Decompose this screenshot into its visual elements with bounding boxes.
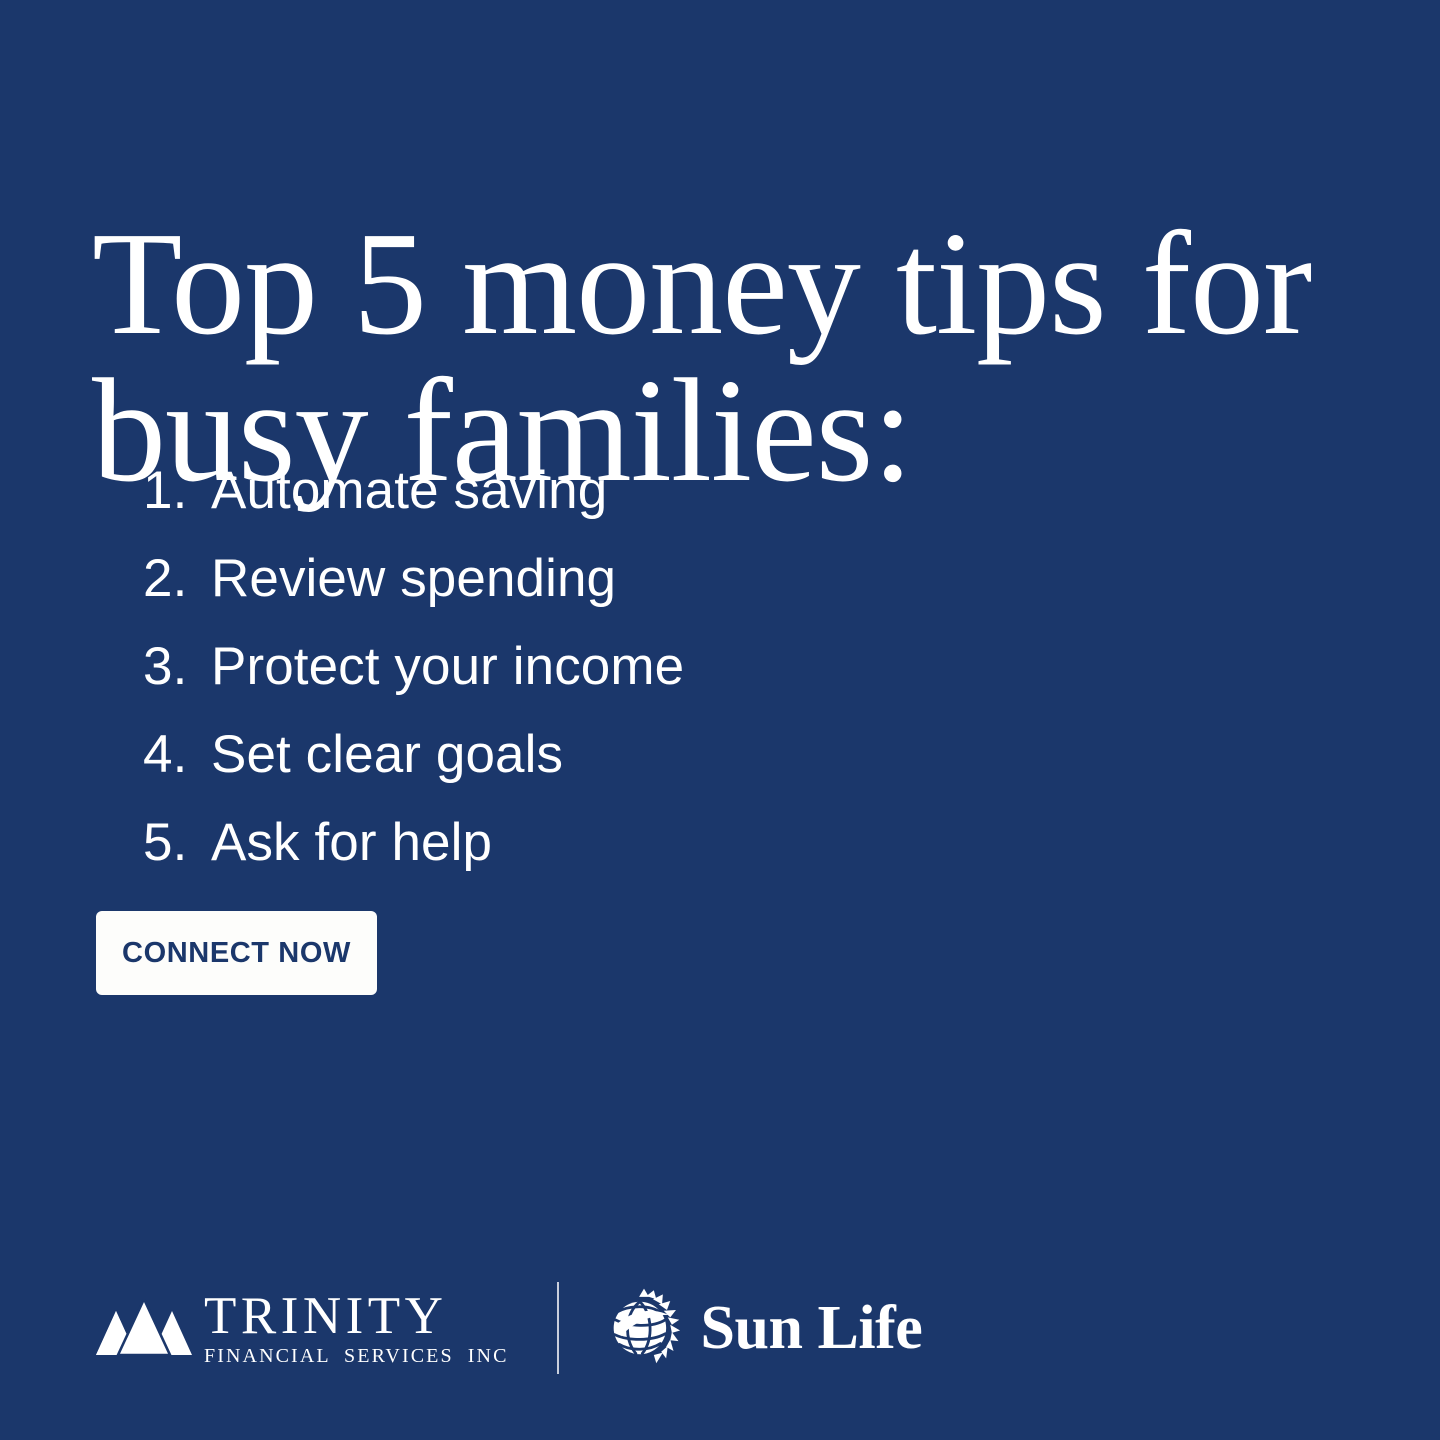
list-item: 2. Review spending: [143, 535, 943, 623]
mountain-triangles-icon: [96, 1299, 192, 1363]
list-item-number: 1.: [143, 447, 211, 535]
poster-canvas: Top 5 money tips for busy families: 1. A…: [0, 0, 1440, 1440]
sunlife-logo: Sun Life: [603, 1278, 923, 1378]
footer-logo-lockup: TRINITY FINANCIAL SERVICES INC: [96, 1272, 922, 1384]
list-item-number: 4.: [143, 711, 211, 799]
list-item-label: Ask for help: [211, 799, 943, 887]
list-item-number: 5.: [143, 799, 211, 887]
logo-divider: [557, 1282, 559, 1374]
tips-list: 1. Automate saving 2. Review spending 3.…: [143, 447, 943, 887]
connect-now-button[interactable]: CONNECT NOW: [96, 911, 377, 995]
list-item: 5. Ask for help: [143, 799, 943, 887]
trinity-tagline: FINANCIAL SERVICES INC: [204, 1345, 509, 1367]
list-item-label: Automate saving: [211, 447, 943, 535]
trinity-wordmark: TRINITY FINANCIAL SERVICES INC: [204, 1289, 509, 1367]
sun-globe-icon: [603, 1287, 685, 1369]
list-item: 1. Automate saving: [143, 447, 943, 535]
list-item-number: 3.: [143, 623, 211, 711]
trinity-name: TRINITY: [204, 1289, 509, 1343]
list-item-number: 2.: [143, 535, 211, 623]
list-item-label: Set clear goals: [211, 711, 943, 799]
list-item: 4. Set clear goals: [143, 711, 943, 799]
sunlife-name: Sun Life: [701, 1297, 923, 1359]
list-item: 3. Protect your income: [143, 623, 943, 711]
list-item-label: Review spending: [211, 535, 943, 623]
list-item-label: Protect your income: [211, 623, 943, 711]
trinity-logo: TRINITY FINANCIAL SERVICES INC: [96, 1278, 509, 1378]
